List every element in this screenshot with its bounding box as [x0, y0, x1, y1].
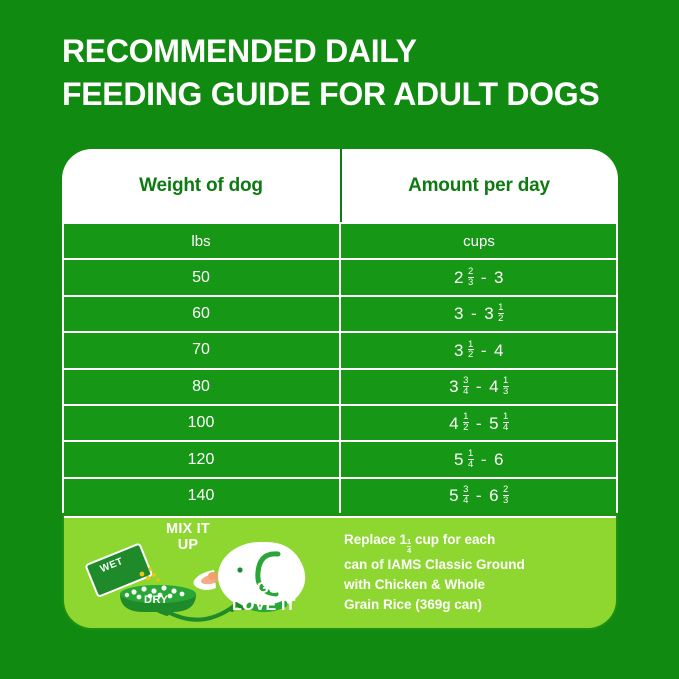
- amount-dash: -: [472, 378, 486, 395]
- footer-panel: MIX IT UP WET DRY DOGS LOVE IT Replace 1…: [64, 516, 616, 628]
- amount-low-fraction: 2 3: [468, 267, 474, 287]
- page-title-line-2: FEEDING GUIDE FOR ADULT DOGS: [62, 73, 662, 116]
- amount-high-fraction: 1 4: [503, 412, 509, 432]
- column-divider: [339, 297, 341, 331]
- amount-dash: -: [477, 451, 491, 468]
- cell-weight: 70: [62, 333, 340, 367]
- table-row: 140 5 3 4 - 6 2 3: [62, 477, 618, 513]
- column-divider: [339, 370, 341, 404]
- column-divider: [339, 479, 341, 513]
- amount-high-whole: 5: [489, 415, 499, 432]
- cell-weight: 120: [62, 442, 340, 476]
- unit-amount: cups: [340, 224, 618, 258]
- header-column-divider: [340, 149, 342, 222]
- dogs-line-2: LOVE IT: [232, 597, 296, 614]
- amount-low-whole: 5: [454, 451, 464, 468]
- amount-low-fraction: 1 2: [463, 412, 469, 432]
- note-line-4: Grain Rice (369g can): [344, 595, 598, 615]
- page-title-line-1: RECOMMENDED DAILY: [62, 30, 662, 73]
- dogs-line-1: DOGS: [232, 580, 296, 597]
- replacement-note: Replace 114 cup for each can of IAMS Cla…: [344, 530, 616, 615]
- table-row: 70 3 1 2 - 4: [62, 331, 618, 367]
- amount-dash: -: [472, 487, 486, 504]
- amount-high-whole: 6: [489, 487, 499, 504]
- amount-dash: -: [477, 342, 491, 359]
- cell-weight: 60: [62, 297, 340, 331]
- note-line-2: can of IAMS Classic Ground: [344, 555, 598, 575]
- amount-dash: -: [477, 269, 491, 286]
- mix-line-2: UP: [142, 538, 234, 554]
- table-row: 60 3 - 3 1 2: [62, 295, 618, 331]
- table-row: 120 5 1 4 - 6: [62, 440, 618, 476]
- column-divider: [339, 333, 341, 367]
- amount-high-whole: 3: [484, 305, 494, 322]
- dogs-love-it-label: DOGS LOVE IT: [232, 580, 296, 615]
- unit-weight: lbs: [62, 224, 340, 258]
- page-title: RECOMMENDED DAILY FEEDING GUIDE FOR ADUL…: [62, 30, 662, 115]
- column-divider: [339, 260, 341, 294]
- mix-it-up-label: MIX IT UP: [142, 522, 234, 553]
- column-divider: [339, 224, 341, 258]
- amount-high-fraction: 2 3: [503, 485, 509, 505]
- note-fraction: 14: [407, 538, 411, 554]
- table-row: 100 4 1 2 - 5 1 4: [62, 404, 618, 440]
- amount-low-whole: 3: [454, 342, 464, 359]
- cell-amount: 3 - 3 1 2: [340, 297, 618, 331]
- cell-amount: 4 1 2 - 5 1 4: [340, 406, 618, 440]
- cell-weight: 140: [62, 479, 340, 513]
- table-header-row: Weight of dog Amount per day: [62, 149, 618, 222]
- cell-amount: 2 2 3 - 3: [340, 260, 618, 294]
- note-line-1: Replace 114 cup for each: [344, 530, 598, 554]
- amount-low-fraction: 1 2: [468, 340, 474, 360]
- amount-low-whole: 4: [449, 415, 459, 432]
- column-header-amount: Amount per day: [340, 175, 618, 197]
- column-header-weight: Weight of dog: [62, 175, 340, 197]
- mix-line-1: MIX IT: [142, 522, 234, 538]
- note-line-3: with Chicken & Whole: [344, 575, 598, 595]
- circular-arrows-icon: [159, 604, 243, 620]
- table-units-row: lbs cups: [62, 222, 618, 258]
- cell-amount: 3 3 4 - 4 1 3: [340, 370, 618, 404]
- dry-bowl-label: DRY: [144, 594, 168, 606]
- amount-low-fraction: 1 4: [468, 449, 474, 469]
- amount-dash: -: [472, 415, 486, 432]
- cell-amount: 3 1 2 - 4: [340, 333, 618, 367]
- amount-low-whole: 2: [454, 269, 464, 286]
- amount-high-fraction: 1 2: [498, 303, 504, 323]
- amount-high-whole: 4: [489, 378, 499, 395]
- table-row: 80 3 3 4 - 4 1 3: [62, 368, 618, 404]
- amount-low-whole: 3: [454, 305, 464, 322]
- column-divider: [339, 442, 341, 476]
- amount-low-whole: 3: [449, 378, 459, 395]
- cell-amount: 5 1 4 - 6: [340, 442, 618, 476]
- amount-high-whole: 3: [494, 269, 504, 286]
- mix-it-up-illustration: MIX IT UP WET DRY DOGS LOVE IT: [64, 518, 344, 628]
- amount-high-whole: 4: [494, 342, 504, 359]
- table-row: 50 2 2 3 - 3: [62, 258, 618, 294]
- amount-high-whole: 6: [494, 451, 504, 468]
- cell-weight: 80: [62, 370, 340, 404]
- amount-dash: -: [467, 305, 481, 322]
- amount-low-fraction: 3 4: [463, 485, 469, 505]
- feeding-guide-table: Weight of dog Amount per day lbs cups 50…: [62, 149, 618, 630]
- amount-low-whole: 5: [449, 487, 459, 504]
- cell-weight: 50: [62, 260, 340, 294]
- cell-amount: 5 3 4 - 6 2 3: [340, 479, 618, 513]
- column-divider: [339, 406, 341, 440]
- amount-high-fraction: 1 3: [503, 376, 509, 396]
- cell-weight: 100: [62, 406, 340, 440]
- amount-low-fraction: 3 4: [463, 376, 469, 396]
